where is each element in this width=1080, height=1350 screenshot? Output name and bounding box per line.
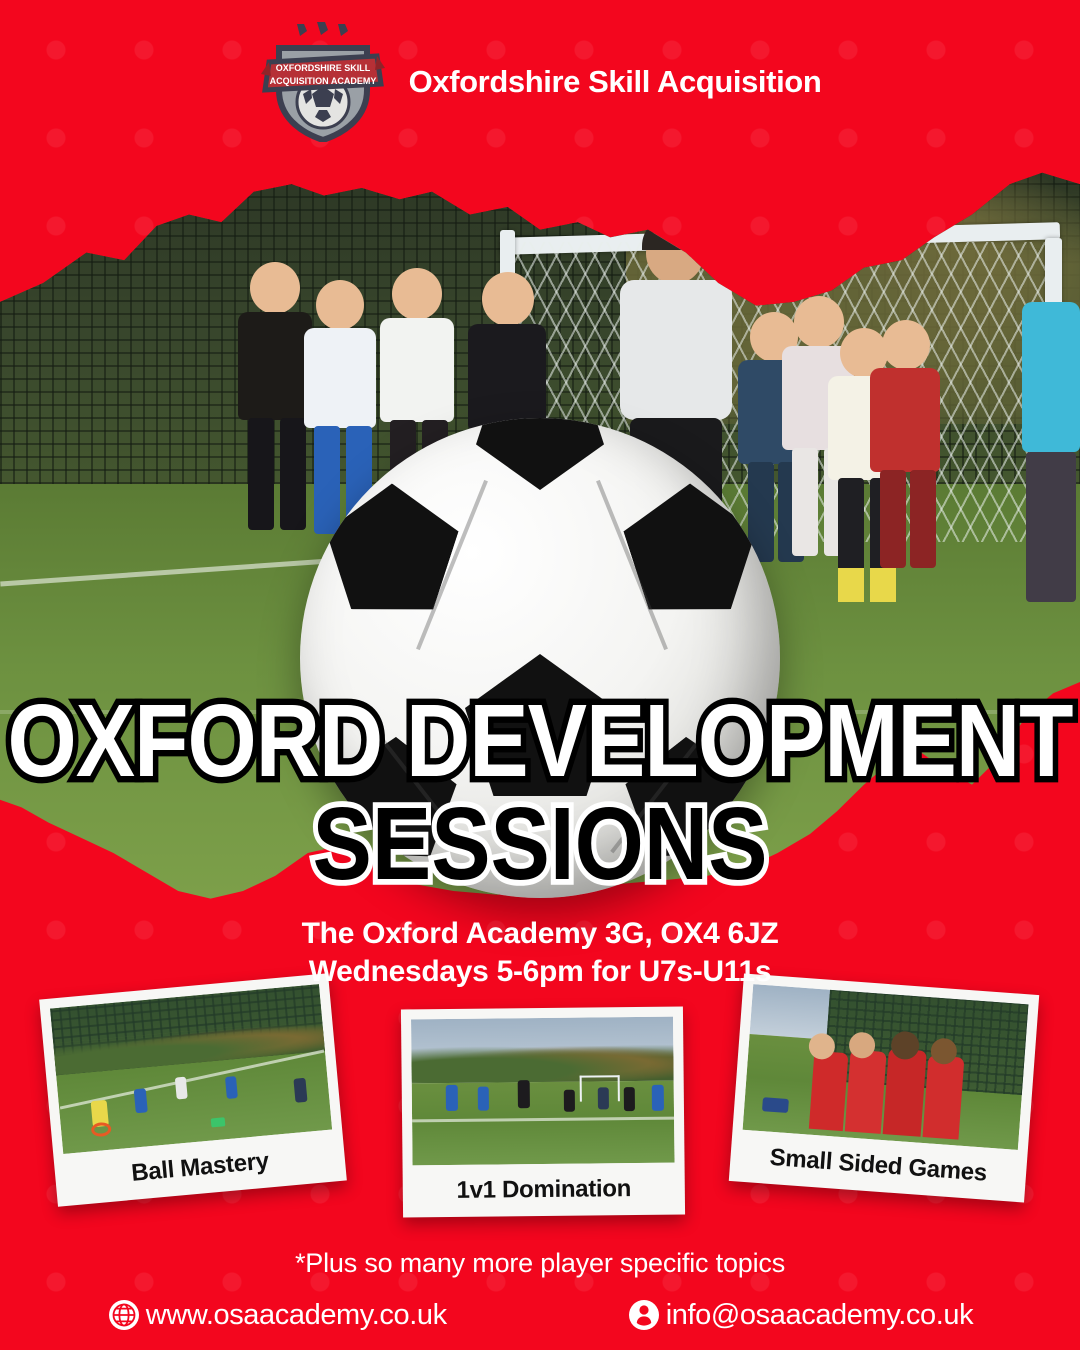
contact-website[interactable]: www.osaacademy.co.uk: [107, 1298, 447, 1332]
logo-banner-line1: OXFORDSHIRE SKILL: [275, 63, 370, 73]
title-line-1: OXFORD DEVELOPMENT: [0, 690, 1080, 791]
card-caption: 1v1 Domination: [413, 1163, 676, 1218]
contact-footer: www.osaacademy.co.uk info@osaacademy.co.…: [0, 1298, 1080, 1332]
venue-block: The Oxford Academy 3G, OX4 6JZ Wednesday…: [0, 915, 1080, 992]
photo-card-group: Ball Mastery 1v1 Domination: [0, 0, 1080, 1350]
website-text: www.osaacademy.co.uk: [146, 1299, 447, 1332]
card-photo: [411, 1017, 675, 1166]
venue-address: The Oxford Academy 3G, OX4 6JZ: [0, 915, 1080, 953]
venue-schedule: Wednesdays 5-6pm for U7s-U11s: [0, 953, 1080, 991]
globe-icon: [107, 1298, 141, 1332]
photo-card-ball-mastery: Ball Mastery: [39, 973, 347, 1206]
header: OXFORDSHIRE SKILL ACQUISITION ACADEMY Ox…: [0, 22, 1080, 142]
email-text: info@osaacademy.co.uk: [666, 1299, 973, 1332]
title-line-2: SESSIONS: [0, 793, 1080, 894]
title-block: OXFORD DEVELOPMENT SESSIONS: [0, 690, 1080, 880]
footnote: *Plus so many more player specific topic…: [0, 1248, 1080, 1279]
card-photo: [743, 984, 1029, 1150]
contact-email[interactable]: info@osaacademy.co.uk: [627, 1298, 973, 1332]
person-icon: [627, 1298, 661, 1332]
brand-name: Oxfordshire Skill Acquisition: [409, 64, 822, 100]
card-photo: [50, 984, 332, 1154]
photo-card-1v1-domination: 1v1 Domination: [401, 1007, 685, 1218]
photo-card-small-sided-games: Small Sided Games: [729, 973, 1039, 1202]
shield-football-logo-icon: OXFORDSHIRE SKILL ACQUISITION ACADEMY: [259, 22, 387, 142]
poster-root: OXFORDSHIRE SKILL ACQUISITION ACADEMY Ox…: [0, 0, 1080, 1350]
logo-banner-line2: ACQUISITION ACADEMY: [269, 76, 376, 86]
